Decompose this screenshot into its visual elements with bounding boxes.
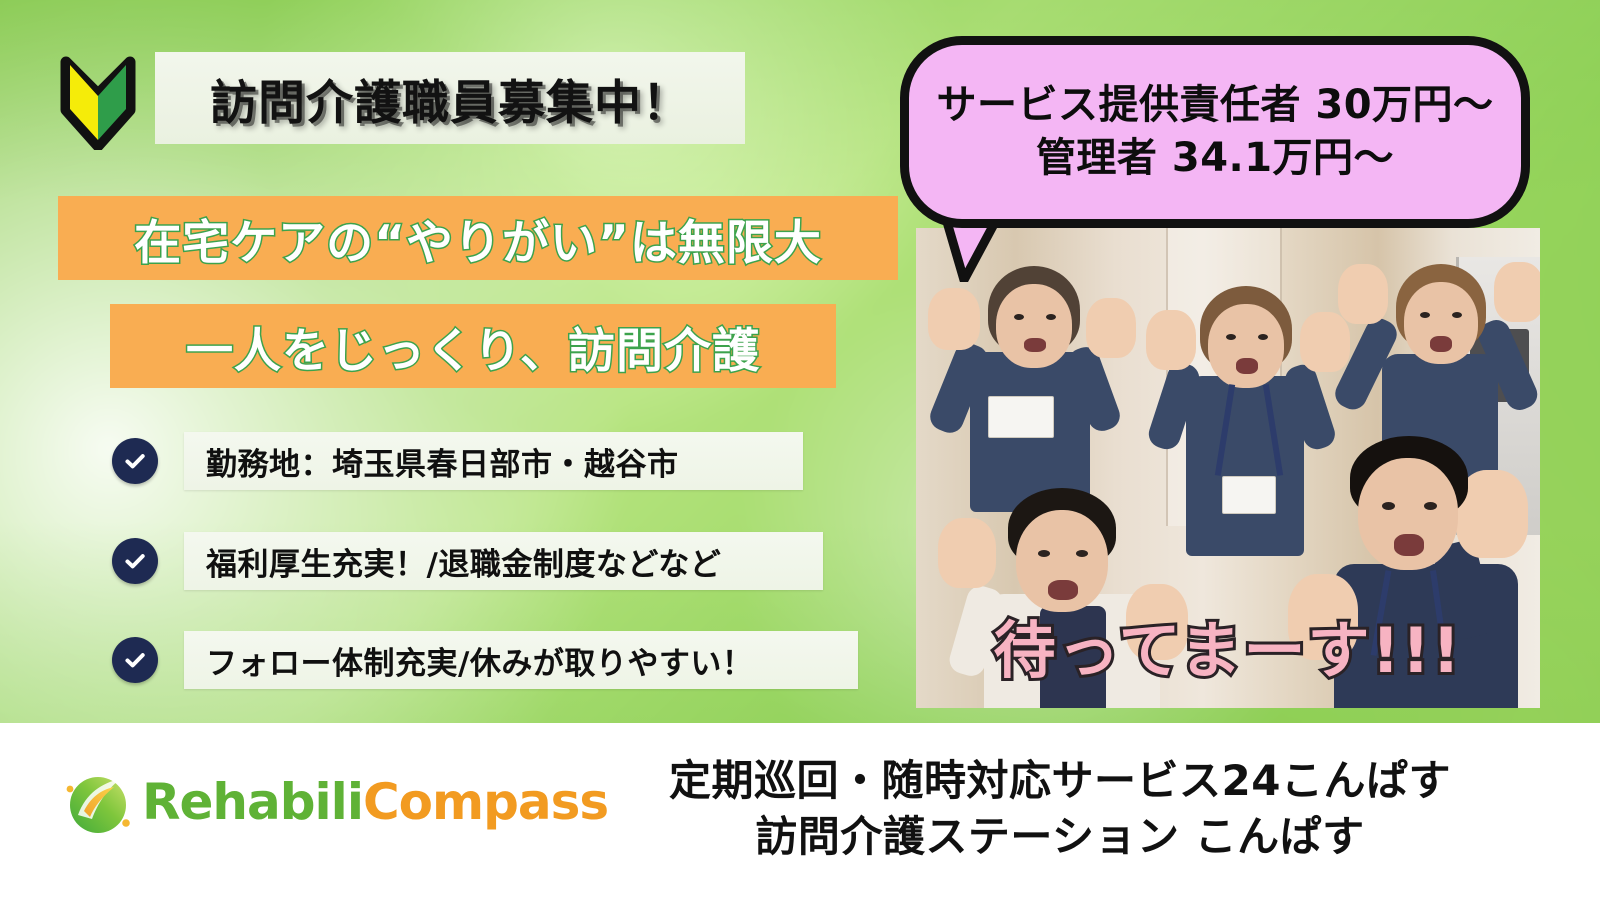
salary-speech-bubble: サービス提供責任者 30万円〜 管理者 34.1万円〜	[900, 36, 1530, 228]
photo-person-hand	[1494, 262, 1540, 322]
photo-person-mouth	[1430, 336, 1452, 352]
wakaba-beginner-mark-icon	[60, 52, 136, 150]
photo-person-hand	[928, 288, 980, 350]
bullet-label: フォロー体制充実/休みが取りやすい！	[206, 638, 753, 683]
photo-person-eye	[1038, 550, 1050, 557]
photo-caption-text: 待ってまーす!!!	[916, 600, 1540, 690]
bullet-pill: 勤務地：埼玉県春日部市・越谷市	[184, 432, 803, 490]
salary-line-2: 管理者 34.1万円〜	[1036, 132, 1394, 185]
bullet-label: 勤務地：埼玉県春日部市・越谷市	[206, 439, 679, 484]
company-logo[interactable]: RehabiliCompass	[62, 765, 608, 839]
photo-person-eye	[1420, 312, 1430, 318]
photo-person-eye	[1226, 334, 1236, 340]
photo-person-mouth	[1048, 580, 1078, 600]
photo-person-face	[996, 284, 1072, 368]
check-circle-icon	[112, 538, 158, 584]
salary-line-1: サービス提供責任者 30万円〜	[936, 79, 1493, 132]
footer-line-1: 定期巡回・随時対応サービス24こんぱす	[600, 753, 1520, 809]
bullet-label: 福利厚生充実！/退職金制度などなど	[206, 539, 721, 584]
bullet-pill: フォロー体制充実/休みが取りやすい！	[184, 631, 858, 689]
photo-person-hand	[1146, 310, 1196, 370]
check-circle-icon	[112, 438, 158, 484]
photo-person-eye	[1076, 550, 1088, 557]
photo-person-eye	[1014, 314, 1024, 320]
photo-person-hand	[1086, 298, 1136, 358]
list-item: 福利厚生充実！/退職金制度などなど	[112, 532, 823, 590]
footer-line-2: 訪問介護ステーション こんぱす	[600, 809, 1520, 865]
logo-word-rehabili: Rehabili	[142, 773, 363, 831]
catchphrase-text-2: 一人をじっくり、訪問介護	[186, 312, 760, 381]
footer-service-names: 定期巡回・随時対応サービス24こんぱす 訪問介護ステーション こんぱす	[600, 753, 1520, 866]
bullet-pill: 福利厚生充実！/退職金制度などなど	[184, 532, 823, 590]
list-item: 勤務地：埼玉県春日部市・越谷市	[112, 432, 803, 490]
headline-band: 訪問介護職員募集中！	[155, 52, 745, 144]
photo-person-hand	[1338, 264, 1388, 324]
photo-person-hand	[938, 518, 996, 588]
catchphrase-text-1: 在宅ケアの“やりがい”は無限大	[134, 204, 822, 273]
logo-word-compass: Compass	[363, 773, 608, 831]
photo-person-eye	[1258, 334, 1268, 340]
photo-person-badge	[988, 396, 1054, 438]
list-item: フォロー体制充実/休みが取りやすい！	[112, 631, 858, 689]
photo-person-eye	[1382, 502, 1395, 510]
rehabili-compass-leaf-icon	[62, 765, 136, 839]
logo-wordmark: RehabiliCompass	[142, 777, 608, 827]
photo-person-mouth	[1394, 534, 1424, 556]
page-title: 訪問介護職員募集中！	[210, 64, 690, 133]
footer-bar: RehabiliCompass 定期巡回・随時対応サービス24こんぱす 訪問介護…	[0, 723, 1600, 900]
staff-photo: 待ってまーす!!!	[916, 228, 1540, 708]
photo-person-mouth	[1236, 358, 1258, 374]
photo-person-eye	[1046, 314, 1056, 320]
check-circle-icon	[112, 637, 158, 683]
recruitment-poster: 訪問介護職員募集中！ 在宅ケアの“やりがい”は無限大 一人をじっくり、訪問介護 …	[0, 0, 1600, 900]
photo-person-eye	[1452, 312, 1462, 318]
catchphrase-banner-1: 在宅ケアの“やりがい”は無限大	[58, 196, 898, 280]
photo-person-mouth	[1024, 338, 1046, 352]
photo-person-face	[1208, 304, 1284, 388]
catchphrase-banner-2: 一人をじっくり、訪問介護	[110, 304, 836, 388]
photo-person-eye	[1424, 502, 1437, 510]
